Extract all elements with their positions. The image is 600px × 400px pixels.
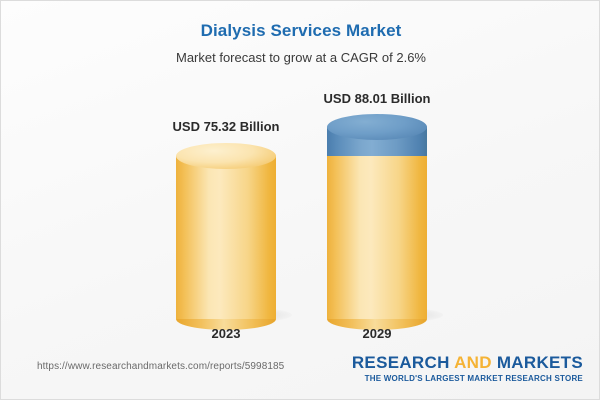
- bar-value-label-2023: USD 75.32 Billion: [146, 119, 306, 134]
- source-url[interactable]: https://www.researchandmarkets.com/repor…: [37, 361, 284, 372]
- logo-word-research: RESEARCH: [352, 353, 450, 372]
- category-label-2023: 2023: [146, 326, 306, 341]
- logo-tagline: THE WORLD'S LARGEST MARKET RESEARCH STOR…: [352, 374, 583, 383]
- bar-cylinder-2029[interactable]: [327, 114, 427, 319]
- chart-card: Dialysis Services Market Market forecast…: [0, 0, 600, 400]
- brand-logo[interactable]: RESEARCH AND MARKETS THE WORLD'S LARGEST…: [352, 353, 583, 383]
- bar-cylinder-2023[interactable]: [176, 143, 276, 319]
- logo-word-markets: MARKETS: [497, 353, 583, 372]
- logo-wordmark: RESEARCH AND MARKETS: [352, 353, 583, 372]
- bar-group-2029: USD 88.01 Billion 2029: [297, 91, 457, 341]
- cylinder-body-base-2029: [327, 156, 427, 319]
- bar-value-label-2029: USD 88.01 Billion: [297, 91, 457, 106]
- chart-footer: https://www.researchandmarkets.com/repor…: [1, 347, 600, 399]
- bar-group-2023: USD 75.32 Billion 2023: [146, 91, 306, 341]
- logo-word-and: AND: [454, 353, 492, 372]
- cylinder-body-base-2023: [176, 156, 276, 319]
- category-label-2029: 2029: [297, 326, 457, 341]
- chart-plot-area: USD 75.32 Billion 2023 USD 88.01 Billion…: [1, 1, 600, 341]
- cylinder-top-cap-2023: [176, 143, 276, 169]
- cylinder-top-cap-2029: [327, 114, 427, 140]
